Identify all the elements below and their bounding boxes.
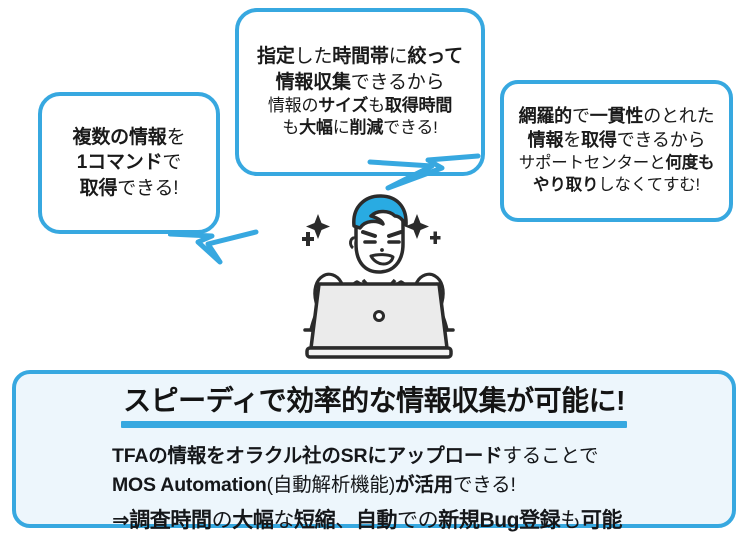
bubble-line: も大幅に削減できる! — [282, 117, 437, 139]
bubble-line: 情報を取得できるから — [528, 129, 706, 153]
summary-conclusion-line: ⇒調査時間の大幅な短縮、自動での新規Bug登録も可能 — [112, 500, 732, 537]
excited-businessman-with-laptop — [283, 192, 475, 364]
bubble-line: 情報収集できるから — [276, 70, 445, 95]
bubble-line: 情報のサイズも取得時間 — [268, 95, 452, 117]
summary-line: TFAの情報をオラクル社のSRにアップロードすることで — [112, 442, 732, 471]
summary-title: スピーディで効率的な情報収集が可能に! — [121, 386, 627, 421]
benefit-bubble-consistent-info: 網羅的で一貫性のとれた情報を取得できるからサポートセンターと何度もやり取りしなく… — [500, 80, 733, 222]
benefit-bubble-multiple-info: 複数の情報を1コマンドで取得できる! — [38, 92, 220, 234]
summary-body: TFAの情報をオラクル社のSRにアップロードすることで MOS Automati… — [16, 442, 732, 537]
bubble-line: やり取りしなくてすむ! — [533, 175, 700, 197]
laptop-logo — [375, 312, 384, 321]
bubble-line: 取得できる! — [80, 176, 179, 201]
laptop — [307, 284, 451, 357]
laptop-base — [307, 348, 451, 357]
bubble-line: 網羅的で一貫性のとれた — [519, 105, 715, 129]
summary-line: MOS Automation(自動解析機能)が活用できる! — [112, 471, 732, 500]
bubble-line: 指定した時間帯に絞って — [257, 44, 463, 69]
nose — [380, 248, 384, 252]
bubble-line: サポートセンターと何度も — [519, 153, 715, 175]
bubble-line: 複数の情報を — [73, 125, 186, 150]
summary-title-block: スピーディで効率的な情報収集が可能に! — [121, 386, 627, 428]
summary-panel: スピーディで効率的な情報収集が可能に! TFAの情報をオラクル社のSRにアップロ… — [12, 370, 736, 528]
benefit-bubble-time-range: 指定した時間帯に絞って情報収集できるから情報のサイズも取得時間も大幅に削減できる… — [235, 8, 485, 176]
bubble-line: 1コマンドで — [77, 150, 181, 175]
infographic-canvas: 複数の情報を1コマンドで取得できる! 指定した時間帯に絞って情報収集できるから情… — [0, 0, 750, 540]
summary-title-underline — [121, 421, 627, 428]
